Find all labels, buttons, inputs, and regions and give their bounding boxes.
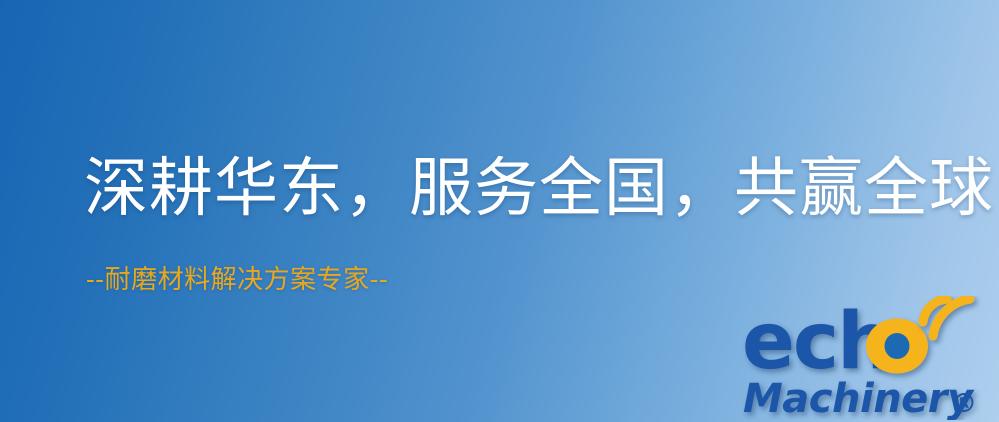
logo-tagline: Machinery ® — [743, 376, 977, 420]
banner-subtitle: --耐磨材料解决方案专家-- — [86, 264, 388, 296]
echo-machinery-logo: ech Machinery ® — [742, 296, 994, 420]
promo-banner: 深耕华东，服务全国，共赢全球 --耐磨材料解决方案专家-- ech — [0, 0, 999, 422]
logo-letter-o — [866, 319, 928, 374]
logo-tagline-text: Machinery — [743, 376, 975, 420]
echo-signal-arcs — [923, 299, 970, 336]
logo-registered-mark: ® — [951, 389, 977, 419]
banner-headline: 深耕华东，服务全国，共赢全球 — [84, 150, 994, 228]
